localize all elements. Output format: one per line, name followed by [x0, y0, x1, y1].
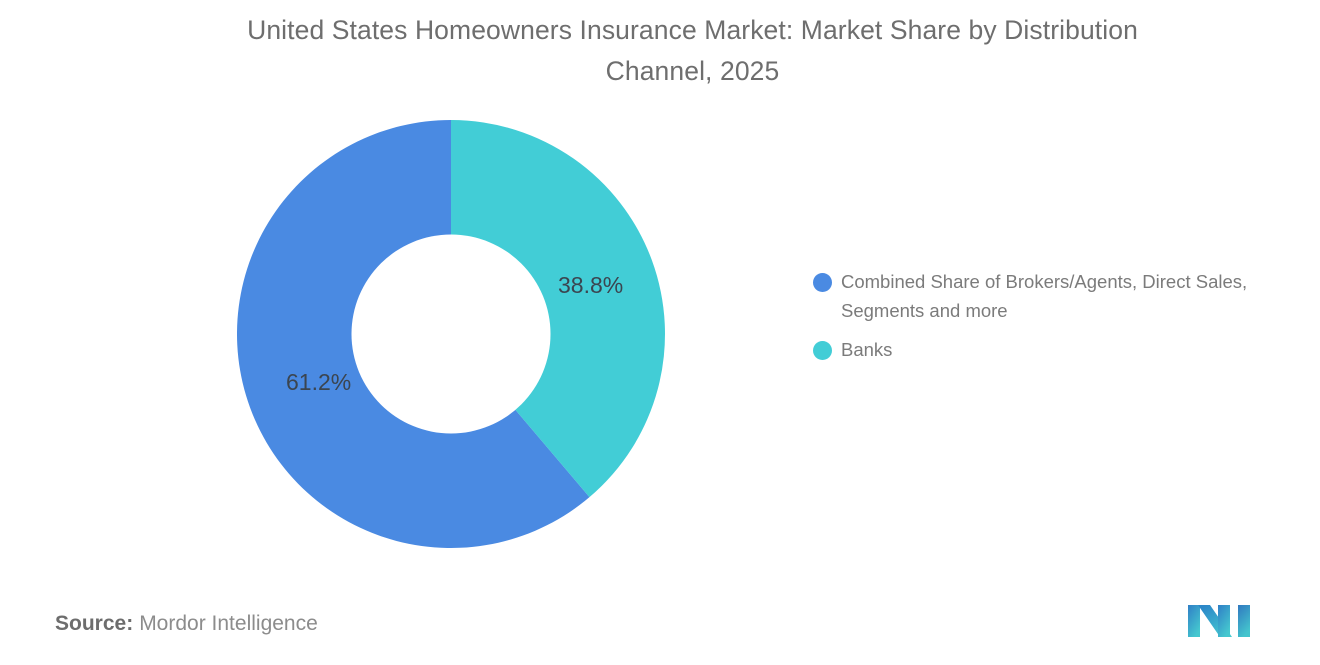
donut-hole — [351, 234, 550, 433]
mordor-intelligence-logo-icon — [1186, 597, 1254, 641]
slice-label-combined-share: 61.2% — [286, 369, 351, 396]
chart-title: United States Homeowners Insurance Marke… — [165, 10, 1220, 92]
source-prefix-label: Source: — [55, 612, 133, 635]
legend-swatch-icon — [813, 273, 832, 292]
logo-svg — [1186, 597, 1254, 641]
legend-item-banks[interactable]: Banks — [813, 336, 1293, 365]
source-value-label: Mordor Intelligence — [139, 612, 318, 635]
donut-svg — [237, 120, 665, 548]
legend-swatch-icon — [813, 341, 832, 360]
legend-item-combined-share[interactable]: Combined Share of Brokers/Agents, Direct… — [813, 268, 1293, 325]
donut-chart: 61.2% 38.8% — [237, 120, 665, 548]
chart-legend: Combined Share of Brokers/Agents, Direct… — [813, 268, 1293, 376]
legend-label: Combined Share of Brokers/Agents, Direct… — [841, 268, 1276, 325]
source-line: Source:Mordor Intelligence — [55, 612, 318, 636]
slice-label-banks: 38.8% — [558, 272, 623, 299]
legend-label: Banks — [841, 336, 892, 365]
